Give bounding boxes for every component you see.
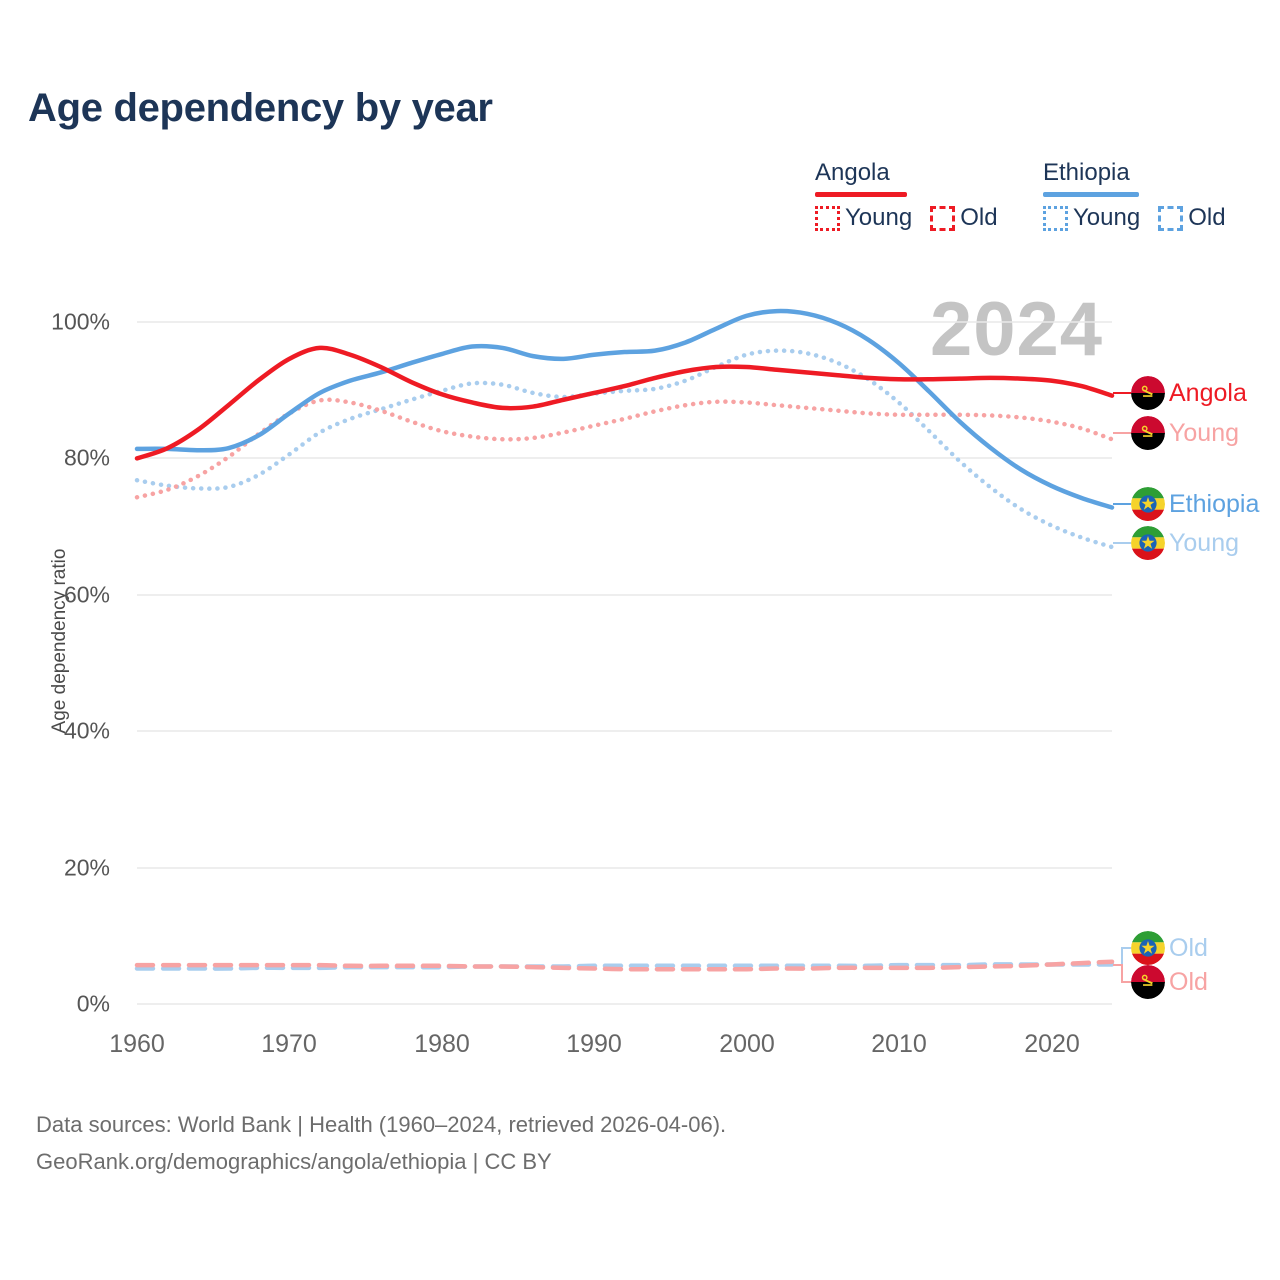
y-axis-label: Age dependency ratio: [49, 541, 71, 741]
end-label-text: Ethiopia: [1169, 491, 1259, 517]
y-tick-100: 100%: [20, 309, 110, 336]
angola-flag-icon: [1131, 376, 1165, 410]
footer-data-sources: Data sources: World Bank | Health (1960–…: [36, 1106, 726, 1143]
end-label-angola-total[interactable]: Angola: [1131, 376, 1247, 410]
end-label-angola-young[interactable]: Young: [1131, 416, 1239, 450]
end-label-ethiopia-total[interactable]: Ethiopia: [1131, 487, 1259, 521]
ethiopia-flag-icon: [1131, 526, 1165, 560]
end-label-text: Young: [1169, 530, 1239, 556]
end-label-angola-old[interactable]: Old: [1131, 965, 1208, 999]
x-tick-1970: 1970: [261, 1030, 317, 1059]
ethiopia-flag-icon: [1131, 931, 1165, 965]
x-tick-1980: 1980: [414, 1030, 470, 1059]
end-label-text: Old: [1169, 969, 1208, 995]
y-tick-60: 60%: [20, 582, 110, 609]
x-tick-2010: 2010: [871, 1030, 927, 1059]
y-tick-20: 20%: [20, 855, 110, 882]
x-tick-1990: 1990: [566, 1030, 622, 1059]
x-tick-1960: 1960: [109, 1030, 165, 1059]
ethiopia-flag-icon: [1131, 487, 1165, 521]
y-tick-40: 40%: [20, 718, 110, 745]
plot-area: [0, 0, 1280, 1280]
x-tick-2000: 2000: [719, 1030, 775, 1059]
footer-attribution: GeoRank.org/demographics/angola/ethiopia…: [36, 1143, 726, 1180]
end-label-ethiopia-young[interactable]: Young: [1131, 526, 1239, 560]
x-tick-2020: 2020: [1024, 1030, 1080, 1059]
end-label-ethiopia-old[interactable]: Old: [1131, 931, 1208, 965]
series-line: [137, 348, 1112, 459]
chart-container: Age dependency by year Angola Young Old …: [0, 0, 1280, 1280]
y-tick-80: 80%: [20, 445, 110, 472]
data-series-layer: [137, 311, 1112, 969]
angola-flag-icon: [1131, 416, 1165, 450]
y-tick-0: 0%: [20, 991, 110, 1018]
series-line: [137, 400, 1112, 498]
angola-flag-icon: [1131, 965, 1165, 999]
footer: Data sources: World Bank | Health (1960–…: [36, 1106, 726, 1180]
end-label-text: Old: [1169, 935, 1208, 961]
leader-lines: [1113, 393, 1131, 982]
end-label-text: Angola: [1169, 380, 1247, 406]
end-label-text: Young: [1169, 420, 1239, 446]
series-line: [137, 311, 1112, 507]
